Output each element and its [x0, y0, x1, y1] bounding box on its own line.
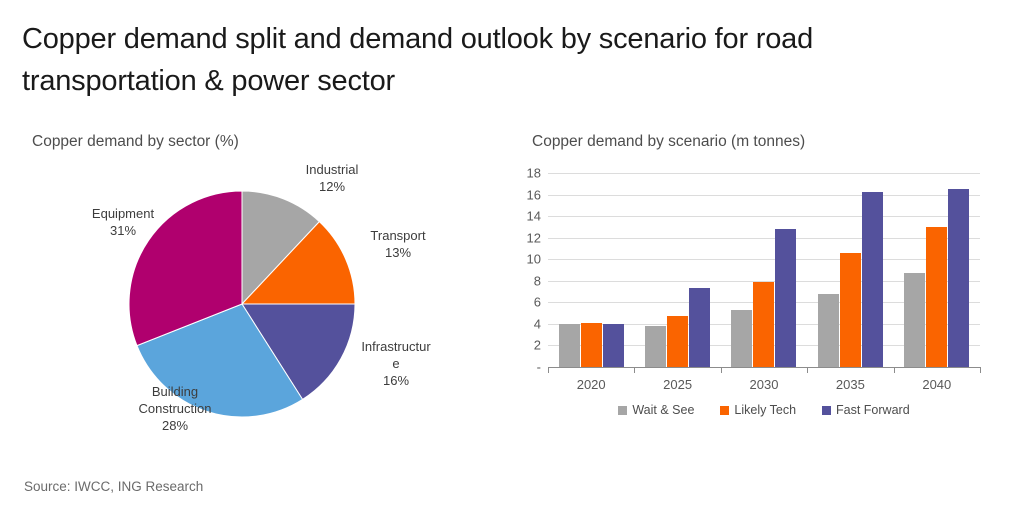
y-axis-tick-label: 8 — [534, 273, 541, 288]
bar-group — [807, 173, 893, 367]
pie-label-infrastructure: Infrastructur e 16% — [350, 338, 442, 389]
y-axis-tick-label: 4 — [534, 316, 541, 331]
bar — [689, 288, 710, 367]
legend-item[interactable]: Wait & See — [618, 403, 694, 417]
bar — [667, 316, 688, 367]
axis-tick-mark — [980, 367, 981, 373]
bar — [840, 253, 861, 367]
y-axis-tick-label: 6 — [534, 295, 541, 310]
x-axis-line — [548, 367, 980, 368]
axis-tick-mark — [548, 367, 549, 373]
bar-chart-title: Copper demand by scenario (m tonnes) — [532, 133, 805, 151]
y-axis-tick-label: - — [537, 360, 541, 375]
pie-label-transport: Transport 13% — [350, 227, 446, 261]
y-axis-tick-label: 18 — [527, 166, 541, 181]
bar-group — [894, 173, 980, 367]
legend-swatch-icon — [618, 406, 627, 415]
legend-swatch-icon — [822, 406, 831, 415]
legend-label: Fast Forward — [836, 403, 910, 417]
legend-label: Wait & See — [632, 403, 694, 417]
y-axis-tick-label: 12 — [527, 230, 541, 245]
bar — [731, 310, 752, 367]
pie-label-industrial: Industrial 12% — [288, 161, 376, 195]
bar — [926, 227, 947, 367]
bar-group — [634, 173, 720, 367]
bar — [645, 326, 666, 367]
source-note: Source: IWCC, ING Research — [24, 479, 203, 494]
x-axis-tick-label: 2040 — [922, 377, 951, 392]
bar — [775, 229, 796, 367]
bar-group — [721, 173, 807, 367]
legend-item[interactable]: Fast Forward — [822, 403, 910, 417]
y-axis-tick-label: 16 — [527, 187, 541, 202]
bar-plot-area: -24681012141618 — [548, 173, 980, 367]
axis-tick-mark — [721, 367, 722, 373]
pie-chart-svg — [20, 155, 490, 455]
pie-label-building-construction: Building Construction 28% — [120, 383, 230, 434]
pie-label-equipment: Equipment 31% — [68, 205, 178, 239]
bar-chart-legend: Wait & SeeLikely TechFast Forward — [548, 403, 980, 417]
bar — [559, 324, 580, 367]
legend-item[interactable]: Likely Tech — [720, 403, 796, 417]
bar-group — [548, 173, 634, 367]
pie-chart: Industrial 12% Transport 13% Infrastruct… — [20, 155, 490, 455]
bar-chart: -24681012141618 20202025203020352040 Wai… — [500, 155, 1010, 445]
bar — [862, 192, 883, 367]
axis-tick-mark — [894, 367, 895, 373]
x-axis-tick-label: 2025 — [663, 377, 692, 392]
axis-tick-mark — [634, 367, 635, 373]
bar — [948, 189, 969, 367]
bar — [603, 324, 624, 367]
bar — [581, 323, 602, 367]
y-axis-tick-label: 2 — [534, 338, 541, 353]
page-title: Copper demand split and demand outlook b… — [22, 18, 972, 102]
y-axis-tick-label: 10 — [527, 252, 541, 267]
x-axis-tick-label: 2035 — [836, 377, 865, 392]
x-axis-tick-label: 2020 — [577, 377, 606, 392]
bar — [904, 273, 925, 367]
legend-label: Likely Tech — [734, 403, 796, 417]
y-axis-tick-label: 14 — [527, 209, 541, 224]
pie-chart-title: Copper demand by sector (%) — [32, 133, 239, 151]
bar — [753, 282, 774, 367]
x-axis-tick-label: 2030 — [750, 377, 779, 392]
legend-swatch-icon — [720, 406, 729, 415]
bar — [818, 294, 839, 367]
axis-tick-mark — [807, 367, 808, 373]
